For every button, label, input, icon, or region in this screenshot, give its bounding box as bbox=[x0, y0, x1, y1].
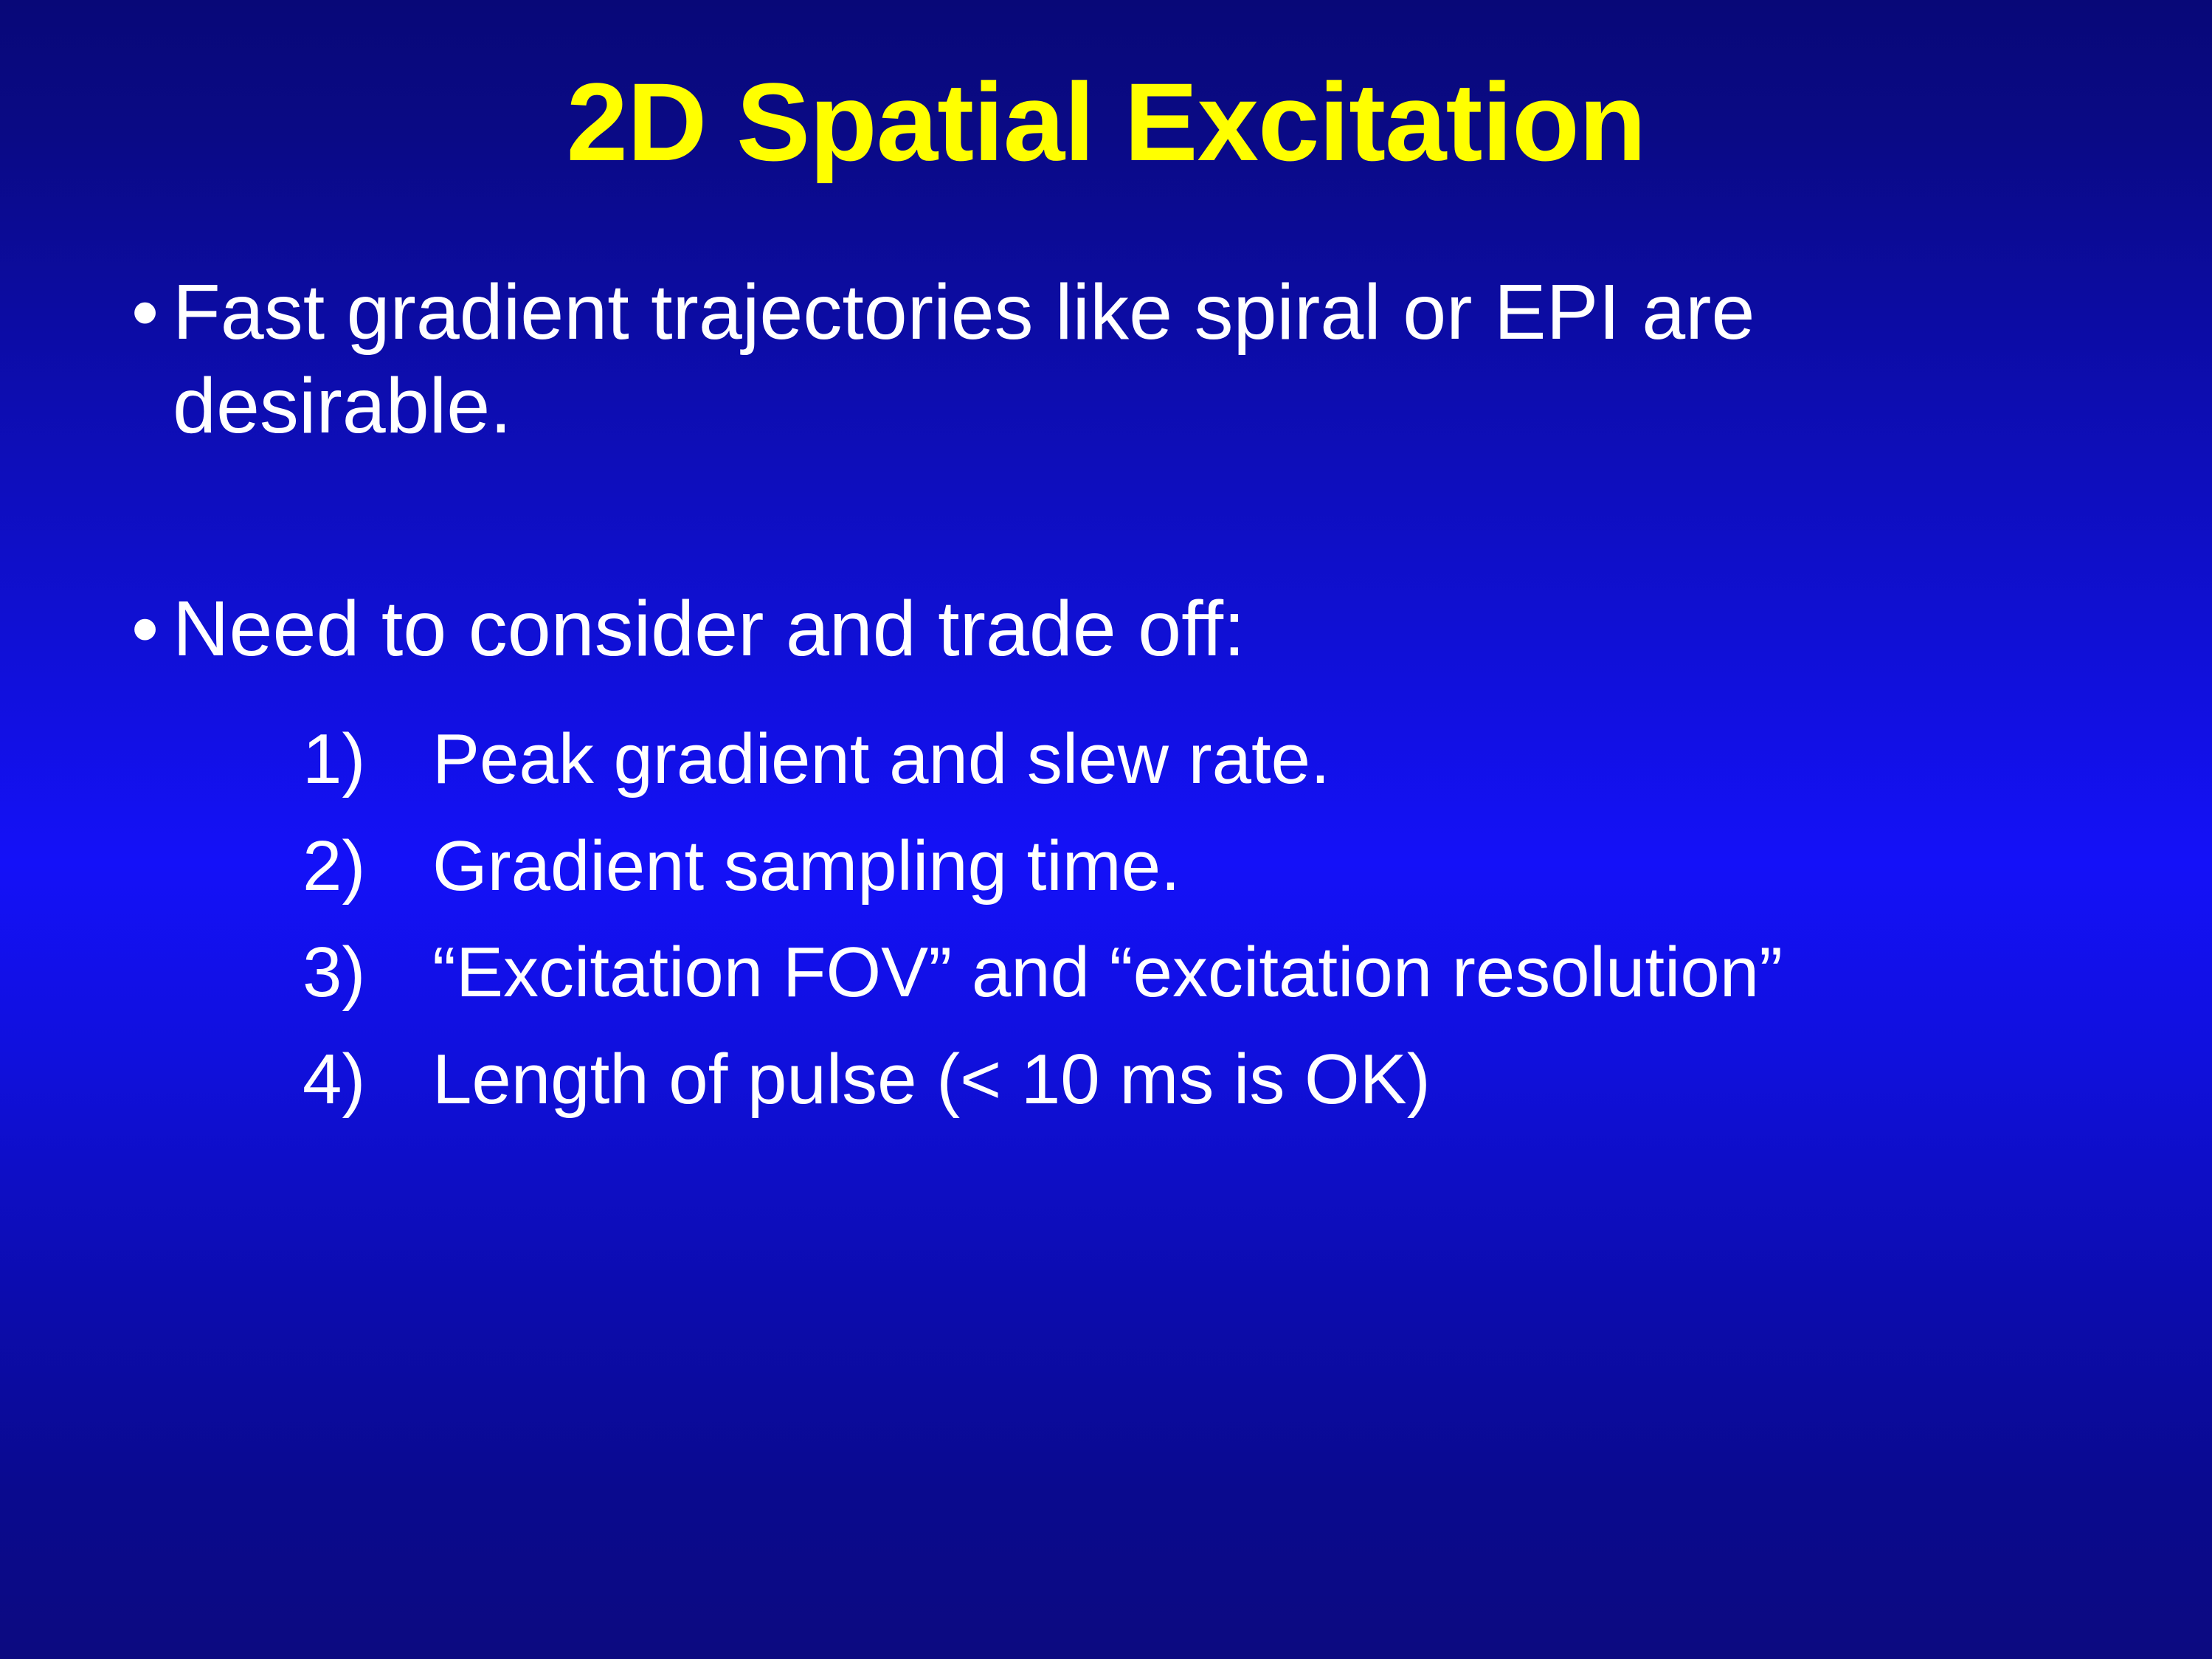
page-title: 2D Spatial Excitation bbox=[567, 63, 1646, 181]
numbered-item-4: 4) Length of pulse (< 10 ms is OK) bbox=[303, 1027, 2079, 1134]
numbered-item-1-label: Peak gradient and slew rate. bbox=[432, 706, 1330, 813]
numbered-item-3-label: “Excitation FOV” and “excitation resolut… bbox=[432, 920, 1783, 1027]
numbered-item-4-marker: 4) bbox=[303, 1027, 432, 1134]
slide-body: • Fast gradient trajectories like spiral… bbox=[131, 266, 2079, 1134]
numbered-item-2-label: Gradient sampling time. bbox=[432, 813, 1181, 920]
bullet-item-1: • Fast gradient trajectories like spiral… bbox=[131, 266, 2079, 453]
numbered-item-4-label: Length of pulse (< 10 ms is OK) bbox=[432, 1027, 1431, 1134]
bullet-item-2: • Need to consider and trade off: bbox=[131, 582, 2079, 676]
numbered-item-2: 2) Gradient sampling time. bbox=[303, 813, 2079, 920]
numbered-item-1-marker: 1) bbox=[303, 706, 432, 813]
numbered-item-3-marker: 3) bbox=[303, 920, 432, 1027]
numbered-item-1: 1) Peak gradient and slew rate. bbox=[303, 706, 2079, 813]
numbered-item-2-marker: 2) bbox=[303, 813, 432, 920]
bullet-item-1-label: Fast gradient trajectories like spiral o… bbox=[170, 266, 2079, 453]
bullet-dot-icon: • bbox=[131, 582, 170, 676]
slide-title-block: 2D Spatial Excitation bbox=[0, 63, 2212, 181]
numbered-sub-list: 1) Peak gradient and slew rate. 2) Gradi… bbox=[303, 706, 2079, 1134]
numbered-item-3: 3) “Excitation FOV” and “excitation reso… bbox=[303, 920, 2079, 1027]
bullet-dot-icon: • bbox=[131, 266, 170, 359]
bullet-item-2-label: Need to consider and trade off: bbox=[170, 582, 2079, 676]
slide-canvas: 2D Spatial Excitation • Fast gradient tr… bbox=[0, 0, 2212, 1659]
